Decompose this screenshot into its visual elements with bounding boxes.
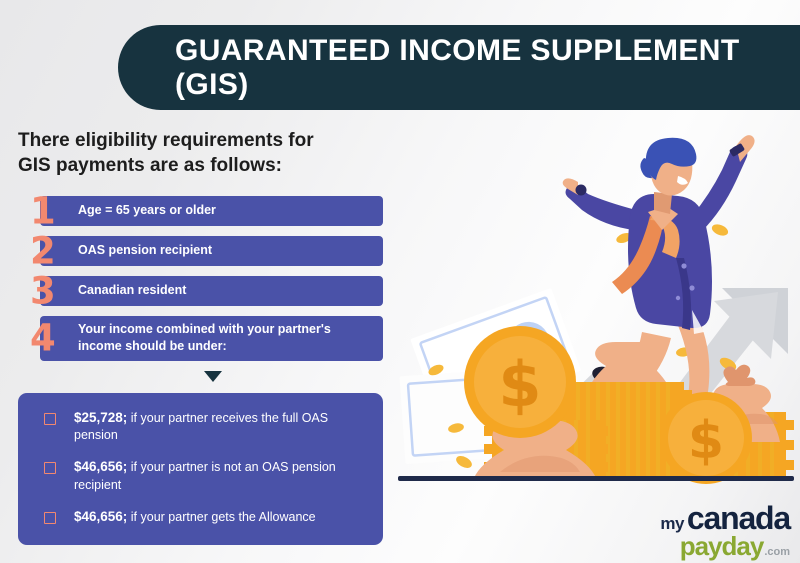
requirement-item-4: Your income combined with your partner's… <box>18 316 390 361</box>
requirement-number: 2 <box>30 232 56 269</box>
requirement-label: Age = 65 years or older <box>40 202 228 219</box>
svg-text:$: $ <box>498 348 541 421</box>
title-banner: GUARANTEED INCOME SUPPLEMENT (GIS) <box>118 25 800 110</box>
threshold-text: $25,728; if your partner receives the fu… <box>74 409 369 445</box>
coin-icon: $ <box>464 326 576 438</box>
threshold-item: $46,656; if your partner is not an OAS p… <box>32 458 369 494</box>
subtitle-heading: There eligibility requirements for GIS p… <box>18 128 348 179</box>
requirement-item-2: OAS pension recipient 2 <box>18 236 390 266</box>
page-title: GUARANTEED INCOME SUPPLEMENT (GIS) <box>118 34 800 101</box>
threshold-amount: $46,656; <box>74 509 127 524</box>
threshold-item: $25,728; if your partner receives the fu… <box>32 409 369 445</box>
logo-payday-text: payday <box>680 531 764 562</box>
requirements-list: Age = 65 years or older 1 OAS pension re… <box>18 196 390 361</box>
checkbox-icon[interactable] <box>44 512 56 524</box>
threshold-text: $46,656; if your partner is not an OAS p… <box>74 458 369 494</box>
coin-icon: $ <box>660 392 752 484</box>
requirement-label: Your income combined with your partner's… <box>40 321 383 355</box>
threshold-condition: if your partner gets the Allowance <box>131 510 316 524</box>
requirement-number: 4 <box>30 320 56 357</box>
requirement-number: 1 <box>30 192 56 229</box>
requirement-number: 3 <box>30 272 56 309</box>
checkbox-icon[interactable] <box>44 462 56 474</box>
svg-text:$: $ <box>688 411 724 471</box>
threshold-amount: $25,728; <box>74 410 127 425</box>
threshold-text: $46,656; if your partner gets the Allowa… <box>74 508 326 527</box>
requirement-label: Canadian resident <box>40 282 198 299</box>
ground-line <box>398 476 794 481</box>
threshold-item: $46,656; if your partner gets the Allowa… <box>32 508 369 527</box>
threshold-amount: $46,656; <box>74 459 127 474</box>
logo-com-text: .com <box>764 546 790 558</box>
checkbox-icon[interactable] <box>44 413 56 425</box>
content-column: There eligibility requirements for GIS p… <box>18 128 390 545</box>
triangle-down-icon <box>18 371 390 389</box>
requirement-bar: Age = 65 years or older <box>40 196 383 226</box>
requirement-item-3: Canadian resident 3 <box>18 276 390 306</box>
requirement-bar: Your income combined with your partner's… <box>40 316 383 361</box>
requirement-label: OAS pension recipient <box>40 242 224 259</box>
jumping-man-with-coins-illustration: $ $ <box>392 120 800 498</box>
requirement-bar: OAS pension recipient <box>40 236 383 266</box>
requirement-item-1: Age = 65 years or older 1 <box>18 196 390 226</box>
income-thresholds-panel: $25,728; if your partner receives the fu… <box>18 393 383 545</box>
requirement-bar: Canadian resident <box>40 276 383 306</box>
company-logo[interactable]: my canada payday .com <box>628 500 790 554</box>
